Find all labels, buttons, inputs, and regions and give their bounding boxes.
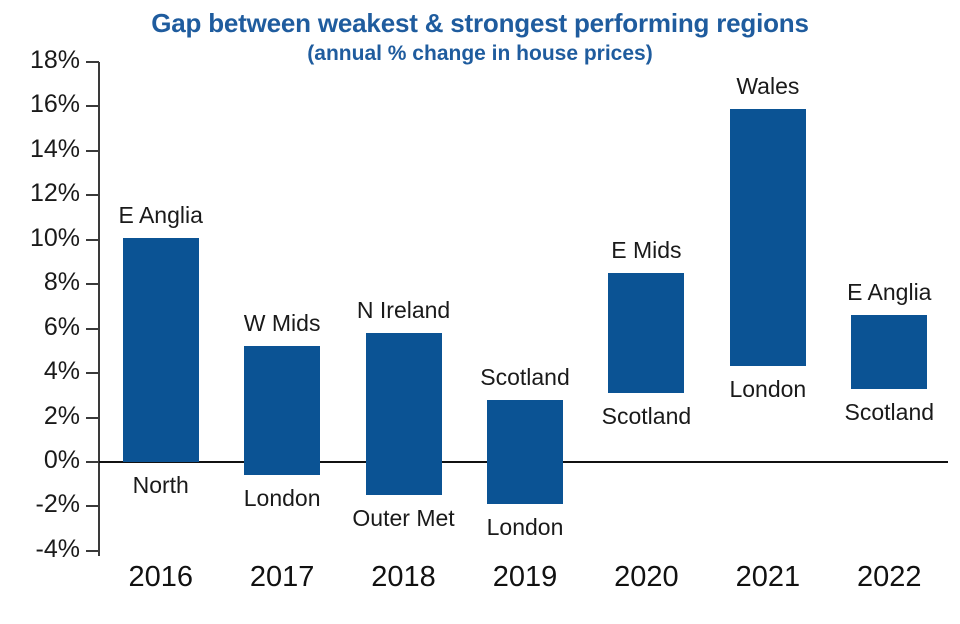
- y-tick-label: -4%: [0, 537, 80, 562]
- bar-top-label-2019: Scotland: [415, 366, 635, 389]
- bar-bottom-label-2020: Scotland: [536, 405, 756, 428]
- y-tick-label: 0%: [0, 448, 80, 473]
- bar-2016[interactable]: [123, 238, 199, 462]
- bar-top-label-2021: Wales: [658, 75, 878, 98]
- y-tick-mark: [86, 150, 99, 152]
- chart-container: Gap between weakest & strongest performi…: [0, 0, 960, 624]
- y-tick-label: 2%: [0, 404, 80, 429]
- y-tick-mark: [86, 417, 99, 419]
- y-tick-mark: [86, 550, 99, 552]
- y-tick-mark: [86, 61, 99, 63]
- y-tick-mark: [86, 328, 99, 330]
- y-tick-mark: [86, 372, 99, 374]
- y-tick-label: 14%: [0, 137, 80, 162]
- y-tick-label: 16%: [0, 92, 80, 117]
- y-tick-mark: [86, 461, 99, 463]
- bar-top-label-2016: E Anglia: [51, 204, 271, 227]
- y-tick-label: 4%: [0, 359, 80, 384]
- y-tick-label: 10%: [0, 226, 80, 251]
- y-tick-mark: [86, 283, 99, 285]
- bar-2017[interactable]: [244, 346, 320, 475]
- y-tick-mark: [86, 239, 99, 241]
- y-tick-label: 8%: [0, 270, 80, 295]
- bar-top-label-2018: N Ireland: [294, 299, 514, 322]
- y-tick-mark: [86, 105, 99, 107]
- bar-top-label-2020: E Mids: [536, 239, 756, 262]
- x-tick-label-2022: 2022: [809, 563, 960, 592]
- bar-2020[interactable]: [608, 273, 684, 393]
- bar-2022[interactable]: [851, 315, 927, 388]
- bar-bottom-label-2022: Scotland: [779, 401, 960, 424]
- plot-area: 18%16%14%12%10%8%6%4%2%0%-2%-4% E Anglia…: [0, 0, 960, 624]
- y-tick-mark: [86, 194, 99, 196]
- bar-2018[interactable]: [366, 333, 442, 495]
- bar-2021[interactable]: [730, 109, 806, 367]
- bar-bottom-label-2021: London: [658, 378, 878, 401]
- y-tick-label: 6%: [0, 315, 80, 340]
- y-tick-label: 18%: [0, 48, 80, 73]
- bar-top-label-2022: E Anglia: [779, 281, 960, 304]
- bar-bottom-label-2019: London: [415, 516, 635, 539]
- y-tick-mark: [86, 505, 99, 507]
